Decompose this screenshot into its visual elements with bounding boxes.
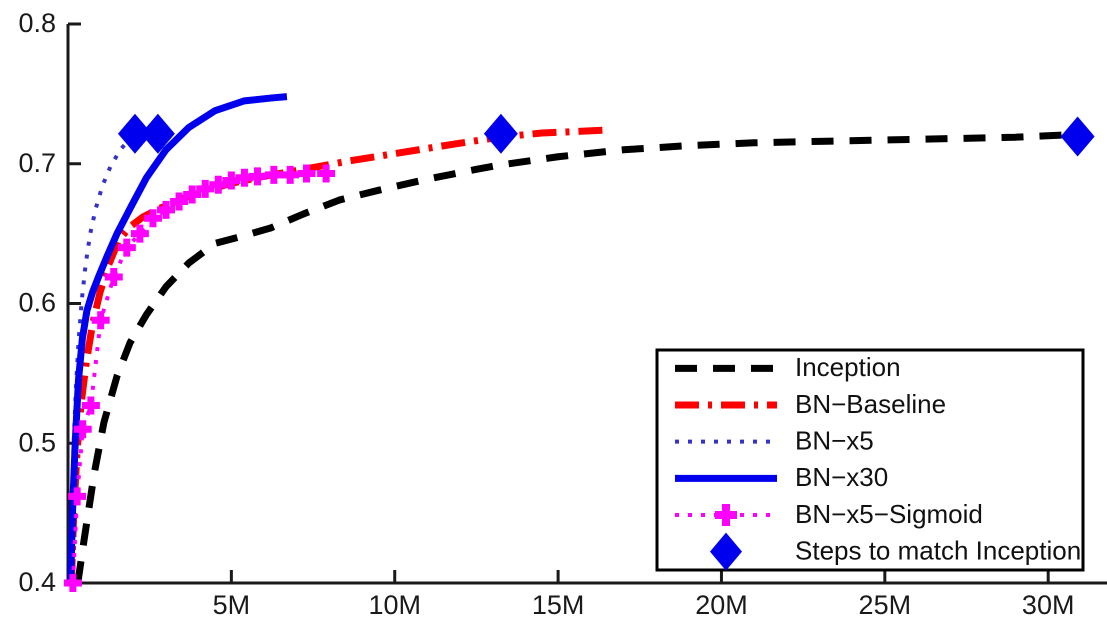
legend-label: BN−x5 <box>795 426 874 456</box>
match-markers-group <box>118 114 1095 157</box>
x-axis-ticks: 5M10M15M20M25M30M <box>213 570 1075 620</box>
legend-label: BN−Baseline <box>795 389 946 419</box>
y-tick-label: 0.8 <box>18 8 56 38</box>
series-line <box>73 174 326 583</box>
match-inception-marker <box>484 114 518 154</box>
legend-label: BN−x5−Sigmoid <box>795 499 983 529</box>
plus-marker <box>92 311 110 329</box>
x-tick-label: 25M <box>859 590 912 620</box>
x-tick-label: 5M <box>213 590 251 620</box>
x-tick-label: 20M <box>695 590 748 620</box>
plus-marker <box>265 166 283 184</box>
legend-label: Inception <box>795 352 901 382</box>
plus-marker <box>105 268 123 286</box>
x-tick-label: 30M <box>1022 590 1075 620</box>
y-tick-label: 0.5 <box>18 427 56 457</box>
chart-figure: 0.40.50.60.70.8 5M10M15M20M25M30M Incept… <box>0 0 1107 633</box>
y-tick-label: 0.7 <box>18 148 56 178</box>
series-bn-x5-sigmoid <box>64 165 335 592</box>
chart-legend: InceptionBN−BaselineBN−x5BN−x30BN−x5−Sig… <box>657 350 1083 571</box>
y-tick-label: 0.4 <box>18 567 56 597</box>
chart-canvas: 0.40.50.60.70.8 5M10M15M20M25M30M Incept… <box>0 0 1107 633</box>
x-tick-label: 15M <box>532 590 585 620</box>
y-tick-label: 0.6 <box>18 288 56 318</box>
legend-label: Steps to match Inception <box>795 536 1081 566</box>
legend-label: BN−x30 <box>795 462 888 492</box>
plus-marker <box>281 166 299 184</box>
x-tick-label: 10M <box>368 590 421 620</box>
match-inception-marker <box>1061 116 1095 156</box>
